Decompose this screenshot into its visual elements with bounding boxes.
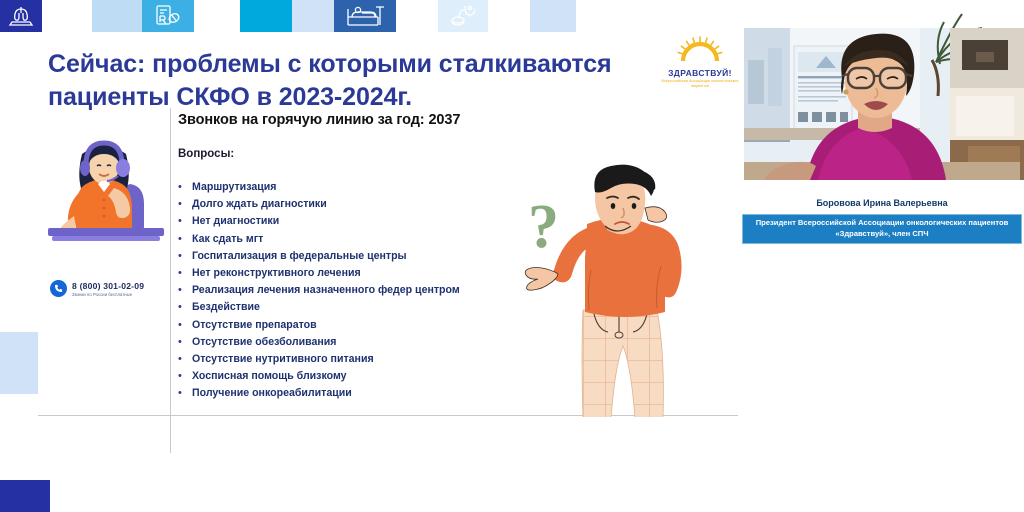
stethoscope-pills-icon bbox=[438, 0, 488, 32]
speaker-role-text: Президент Всероссийской Ассоциации онкол… bbox=[747, 218, 1017, 239]
vertical-divider bbox=[170, 108, 171, 453]
list-item: •Отсутствие обезболивания bbox=[178, 335, 508, 349]
list-item-label: Отсутствие нутритивного питания bbox=[192, 352, 374, 366]
bullet-marker: • bbox=[178, 335, 192, 349]
prescription-pills-icon bbox=[142, 0, 194, 32]
bullet-marker: • bbox=[178, 283, 192, 297]
logo-subtext: Всероссийская Ассоциация онкологических … bbox=[660, 79, 740, 88]
issues-bullet-list: •Маршрутизация•Долго ждать диагностики•Н… bbox=[178, 180, 508, 403]
bullet-marker: • bbox=[178, 249, 192, 263]
page-title: Сейчас: проблемы с которыми сталкиваются… bbox=[48, 48, 648, 114]
bullet-marker: • bbox=[178, 180, 192, 194]
list-item: •Хосписная помощь близкому bbox=[178, 369, 508, 383]
list-item: •Нет реконструктивного лечения bbox=[178, 266, 508, 280]
speaker-video-image bbox=[740, 0, 1024, 195]
calls-count-line: Звонков на горячую линию за год: 2037 bbox=[178, 112, 460, 128]
tile-lightblue-2 bbox=[292, 0, 334, 32]
list-item: •Отсутствие нутритивного питания bbox=[178, 352, 508, 366]
call-center-operator-illustration bbox=[38, 132, 170, 250]
hotline-number: 8 (800) 301-02-09 bbox=[72, 281, 144, 291]
list-item-label: Госпитализация в федеральные центры bbox=[192, 249, 407, 263]
list-item-label: Бездействие bbox=[192, 300, 260, 314]
presentation-slide: Сейчас: проблемы с которыми сталкиваются… bbox=[0, 32, 740, 512]
lungs-laptop-icon bbox=[0, 0, 42, 32]
phone-glyph bbox=[54, 284, 63, 293]
hotline-phone-block: 8 (800) 301-02-09 Звонки по России беспл… bbox=[50, 280, 144, 297]
list-item-label: Получение онкореабилитации bbox=[192, 386, 352, 400]
list-item: •Как сдать мгт bbox=[178, 232, 508, 246]
list-item-label: Нет реконструктивного лечения bbox=[192, 266, 361, 280]
list-item: •Бездействие bbox=[178, 300, 508, 314]
hospital-bed-icon bbox=[334, 0, 396, 32]
bullet-marker: • bbox=[178, 318, 192, 332]
spacer-1 bbox=[42, 0, 92, 32]
decorative-square-light-blue bbox=[0, 332, 38, 394]
zdravstvuy-logo: ЗДРАВСТВУЙ! Всероссийская Ассоциация онк… bbox=[660, 36, 740, 88]
bullet-marker: • bbox=[178, 300, 192, 314]
list-item-label: Хосписная помощь близкому bbox=[192, 369, 347, 383]
spacer-2 bbox=[194, 0, 240, 32]
bullet-marker: • bbox=[178, 197, 192, 211]
list-item-label: Отсутствие препаратов bbox=[192, 318, 317, 332]
list-item-label: Долго ждать диагностики bbox=[192, 197, 327, 211]
tile-lightblue-3 bbox=[530, 0, 576, 32]
phone-icon bbox=[50, 280, 67, 297]
list-item-label: Реализация лечения назначенного федер це… bbox=[192, 283, 460, 297]
speaker-name: Боровова Ирина Валерьевна bbox=[740, 198, 1024, 208]
list-item: •Маршрутизация bbox=[178, 180, 508, 194]
bullet-marker: • bbox=[178, 214, 192, 228]
list-item-label: Как сдать мгт bbox=[192, 232, 263, 246]
bullet-marker: • bbox=[178, 369, 192, 383]
video-feed-panel[interactable] bbox=[740, 0, 1024, 195]
bullet-marker: • bbox=[178, 266, 192, 280]
list-item-label: Отсутствие обезболивания bbox=[192, 335, 336, 349]
bullet-marker: • bbox=[178, 232, 192, 246]
decorative-square-dark-blue bbox=[0, 480, 50, 512]
spacer-4 bbox=[488, 0, 530, 32]
list-item: •Нет диагностики bbox=[178, 214, 508, 228]
list-item-label: Нет диагностики bbox=[192, 214, 279, 228]
list-item: •Долго ждать диагностики bbox=[178, 197, 508, 211]
list-item: •Отсутствие препаратов bbox=[178, 318, 508, 332]
list-item: •Получение онкореабилитации bbox=[178, 386, 508, 400]
logo-wordmark: ЗДРАВСТВУЙ! bbox=[660, 68, 740, 78]
tile-lightblue-1 bbox=[92, 0, 142, 32]
top-icon-banner bbox=[0, 0, 740, 32]
bullet-marker: • bbox=[178, 386, 192, 400]
video-panel-background bbox=[740, 244, 1024, 512]
confused-man-illustration bbox=[495, 162, 745, 417]
list-item: •Госпитализация в федеральные центры bbox=[178, 249, 508, 263]
questions-label: Вопросы: bbox=[178, 148, 234, 160]
bullet-marker: • bbox=[178, 352, 192, 366]
list-item: •Реализация лечения назначенного федер ц… bbox=[178, 283, 508, 297]
speaker-role-bar: Президент Всероссийской Ассоциации онкол… bbox=[742, 214, 1022, 244]
sun-arc-icon bbox=[671, 36, 729, 62]
slide-screenshot: Сейчас: проблемы с которыми сталкиваются… bbox=[0, 0, 1024, 512]
list-item-label: Маршрутизация bbox=[192, 180, 276, 194]
spacer-3 bbox=[396, 0, 438, 32]
hotline-note: Звонки по России бесплатные bbox=[72, 292, 144, 297]
tile-cyan bbox=[240, 0, 292, 32]
